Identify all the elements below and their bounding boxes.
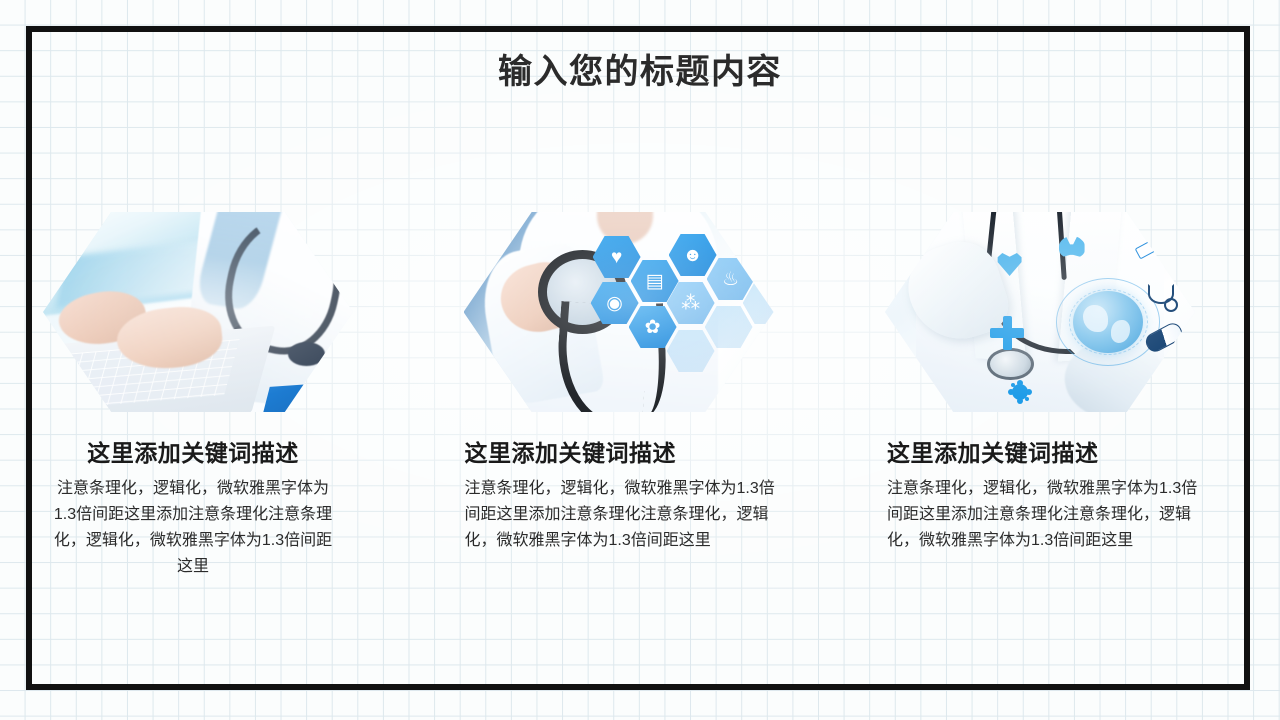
medical-cross-icon [990,316,1024,350]
hex-image-wrap-3 [885,200,1195,412]
doctor-typing-laptop-photo[interactable] [43,212,353,412]
bandage-icon [743,234,774,276]
syringe-icon [1136,236,1170,264]
stethoscope-icon [1148,284,1180,312]
user-doctor-icon: ☻ [669,234,717,276]
content-column-1: 这里添加关键词描述 注意条理化，逻辑化，微软雅黑字体为1.3倍间距这里添加注意条… [40,200,395,620]
slide-root: 输入您的标题内容 [0,0,1280,720]
hex-image-wrap-1 [43,200,353,412]
hex-image-wrap-2: ♥ ▤ ☻ ♨ ◉ ✿ ⁂ ⚗ [464,200,774,412]
keyword-body-1: 注意条理化，逻辑化，微软雅黑字体为1.3倍间距这里添加注意条理化注意条理化，逻辑… [48,476,338,580]
blue-folder-shape [261,381,352,412]
test-tube-icon: ⚗ [705,306,753,348]
flame-icon: ♨ [707,258,755,300]
empty-hex-icon [667,330,715,372]
heart-icon: ♥ [593,236,641,278]
globe-landmass-1 [1083,305,1108,332]
text-block-1: 这里添加关键词描述 注意条理化，逻辑化，微软雅黑字体为1.3倍间距这里添加注意条… [40,434,342,580]
medical-hex-icon-cluster: ♥ ▤ ☻ ♨ ◉ ✿ ⁂ ⚗ [591,230,774,378]
keyword-body-3: 注意条理化，逻辑化，微软雅黑字体为1.3倍间距这里添加注意条理化注意条理化，逻辑… [887,476,1199,554]
doctor-gloves-globe-icons-photo[interactable] [885,212,1195,412]
keyword-heading-2: 这里添加关键词描述 [465,434,777,468]
keyword-body-2: 注意条理化，逻辑化，微软雅黑字体为1.3倍间距这里添加注意条理化注意条理化，逻辑… [465,476,777,554]
content-column-3: 这里添加关键词描述 注意条理化，逻辑化，微软雅黑字体为1.3倍间距这里添加注意条… [885,200,1240,620]
stethoscope-bell-shape [288,342,325,366]
doctor-stethoscope-hex-icons-photo[interactable]: ♥ ▤ ☻ ♨ ◉ ✿ ⁂ ⚗ [464,212,774,412]
photo-laptop-scene [43,212,353,412]
text-block-2: 这里添加关键词描述 注意条理化，逻辑化，微软雅黑字体为1.3倍间距这里添加注意条… [463,434,777,554]
content-columns: 这里添加关键词描述 注意条理化，逻辑化，微软雅黑字体为1.3倍间距这里添加注意条… [40,200,1240,620]
dna-icon: ✿ [629,306,677,348]
photo-globe-scene [885,212,1195,412]
photo-hexicons-scene: ♥ ▤ ☻ ♨ ◉ ✿ ⁂ ⚗ [464,212,774,412]
text-block-3: 这里添加关键词描述 注意条理化，逻辑化，微软雅黑字体为1.3倍间距这里添加注意条… [885,434,1199,554]
content-column-2: ♥ ▤ ☻ ♨ ◉ ✿ ⁂ ⚗ [463,200,818,620]
eye-icon: ◉ [591,282,639,324]
keyword-heading-1: 这里添加关键词描述 [48,434,338,468]
page-title: 输入您的标题内容 [0,44,1280,93]
keyword-heading-3: 这里添加关键词描述 [887,434,1199,468]
virus-icon [1012,384,1028,400]
stethoscope-bell-shape [987,348,1033,380]
